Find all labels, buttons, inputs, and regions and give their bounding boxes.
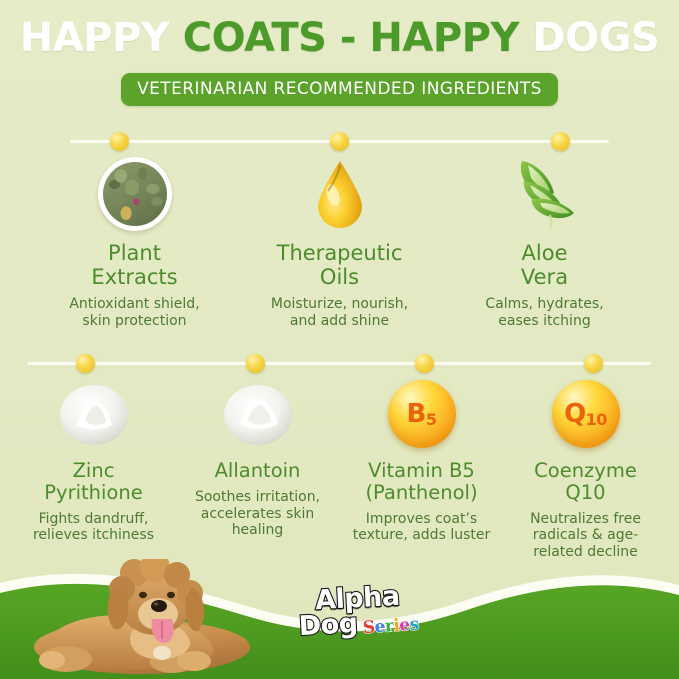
herb-bowl-icon (98, 157, 172, 231)
ingredient-card-coenzyme-q10[interactable]: Q10 Coenzyme Q10 Neutralizes free radica… (504, 374, 668, 561)
ingredient-description: Moisturize, nourish, and add shine (241, 296, 438, 330)
connector-line-1 (0, 130, 679, 152)
connector-dot (415, 354, 434, 373)
aloe-vera-icon (502, 153, 588, 236)
oil-droplet-icon (314, 159, 366, 229)
ingredient-card-plant-extracts[interactable]: Plant Extracts Antioxidant shield, skin … (32, 152, 237, 330)
connector-dot (76, 354, 95, 373)
ingredient-card-vitamin-b5[interactable]: B5 Vitamin B5 (Panthenol) Improves coat’… (340, 374, 504, 544)
ingredient-row-2: Zinc Pyrithione Fights dandruff, relieve… (0, 352, 679, 561)
ingredient-title: Aloe Vera (446, 242, 643, 289)
white-powder-icon (57, 381, 131, 447)
icon-container (36, 152, 233, 236)
ingredient-description: Antioxidant shield, skin protection (36, 296, 233, 330)
title-part-1: HAPPY (20, 15, 170, 61)
dog-photo (22, 559, 282, 679)
ingredient-card-allantoin[interactable]: Allantoin Soothes irritation, accelerate… (176, 374, 340, 539)
subtitle-text: VETERINARIAN RECOMMENDED INGREDIENTS (137, 79, 542, 99)
ingredient-title: Coenzyme Q10 (508, 460, 664, 504)
ingredient-cards-2: Zinc Pyrithione Fights dandruff, relieve… (0, 374, 679, 561)
connector-dot (551, 132, 570, 151)
connector-rule (28, 362, 651, 365)
logo-dog-text: Dog (298, 612, 358, 640)
icon-container (16, 374, 172, 454)
icon-container (241, 152, 438, 236)
icon-container (446, 152, 643, 236)
ingredient-card-therapeutic-oils[interactable]: Therapeutic Oils Moisturize, nourish, an… (237, 152, 442, 330)
capsule-main: Q (564, 399, 586, 429)
icon-container (180, 374, 336, 454)
ingredient-card-aloe-vera[interactable]: Aloe Vera Calms, hydrates, eases itching (442, 152, 647, 330)
ingredient-title: Plant Extracts (36, 242, 233, 289)
icon-container: Q10 (508, 374, 664, 454)
title-part-3: DOGS (532, 15, 659, 61)
ingredient-description: Calms, hydrates, eases itching (446, 296, 643, 330)
logo-series-text: Series (362, 617, 419, 636)
ingredient-row-1: Plant Extracts Antioxidant shield, skin … (0, 130, 679, 330)
page-title: HAPPY COATS - HAPPY DOGS (0, 18, 679, 58)
icon-container: B5 (344, 374, 500, 454)
ingredient-title: Zinc Pyrithione (16, 460, 172, 504)
brand-logo[interactable]: Alpha Dog Series (287, 583, 429, 640)
title-part-2: COATS - HAPPY (183, 15, 519, 61)
capsule-sub: 5 (426, 410, 437, 429)
subtitle-ribbon: VETERINARIAN RECOMMENDED INGREDIENTS (121, 73, 558, 106)
connector-dot (584, 354, 603, 373)
ingredients-infographic: HAPPY COATS - HAPPY DOGS VETERINARIAN RE… (0, 0, 679, 679)
ingredient-description: Improves coat’s texture, adds luster (344, 511, 500, 545)
connector-line-2 (0, 352, 679, 374)
capsule-main: B (407, 399, 426, 429)
ingredient-title: Allantoin (180, 460, 336, 482)
white-powder-icon (221, 381, 295, 447)
connector-dot (110, 132, 129, 151)
capsule-sub: 10 (586, 410, 607, 429)
ingredient-cards-1: Plant Extracts Antioxidant shield, skin … (0, 152, 679, 330)
ingredient-description: Soothes irritation, accelerates skin hea… (180, 489, 336, 539)
ingredient-card-zinc-pyrithione[interactable]: Zinc Pyrithione Fights dandruff, relieve… (12, 374, 176, 544)
header: HAPPY COATS - HAPPY DOGS VETERINARIAN RE… (0, 18, 679, 106)
vitamin-capsule-icon: Q10 (552, 380, 620, 448)
capsule-label: B5 (407, 401, 437, 427)
connector-dot (330, 132, 349, 151)
connector-dot (246, 354, 265, 373)
vitamin-capsule-icon: B5 (388, 380, 456, 448)
footer-banner: Alpha Dog Series (0, 549, 679, 679)
capsule-label: Q10 (564, 401, 607, 427)
ingredient-description: Fights dandruff, relieves itchiness (16, 511, 172, 545)
ingredient-title: Therapeutic Oils (241, 242, 438, 289)
ingredient-title: Vitamin B5 (Panthenol) (344, 460, 500, 504)
